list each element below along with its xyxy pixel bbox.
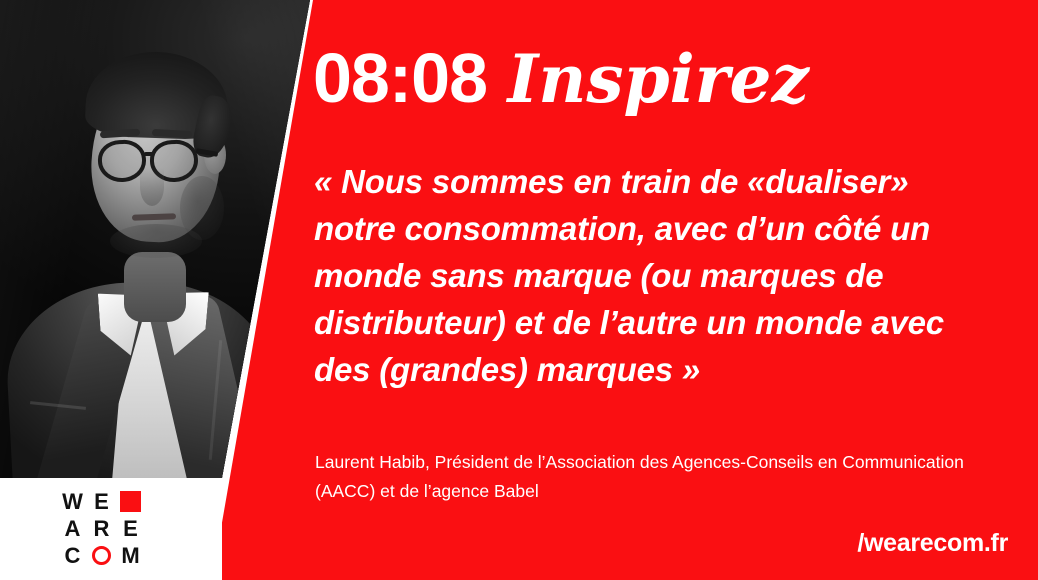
logo-cell-w: W <box>58 488 87 515</box>
logo-cell-e1: E <box>87 488 116 515</box>
logo-cell-blank-3 <box>145 542 174 569</box>
logo-cell-m: M <box>116 542 145 569</box>
logo-cell-square <box>116 488 145 515</box>
logo-cell-a: A <box>58 515 87 542</box>
headline: 08:08 Inspirez <box>313 38 809 118</box>
brand-logo[interactable]: W E A R E C M <box>0 478 222 580</box>
logo-cell-blank-1 <box>145 488 174 515</box>
slide-canvas: 08:08 Inspirez « Nous sommes en train de… <box>0 0 1038 580</box>
quote-attribution: Laurent Habib, Président de l’Associatio… <box>315 448 1005 506</box>
site-url[interactable]: /wearecom.fr <box>857 529 1008 558</box>
portrait-chin-shadow <box>110 224 202 258</box>
red-square-icon <box>120 491 141 512</box>
logo-cell-e2: E <box>116 515 145 542</box>
logo-cell-ring <box>87 542 116 569</box>
logo-letter-grid: W E A R E C M <box>58 488 174 569</box>
content-region: 08:08 Inspirez « Nous sommes en train de… <box>313 0 1038 580</box>
headline-time: 08:08 <box>313 39 487 117</box>
portrait-neck <box>124 252 186 322</box>
portrait-nose <box>140 168 164 206</box>
headline-word: Inspirez <box>508 40 809 118</box>
logo-cell-c: C <box>58 542 87 569</box>
quote-text: « Nous sommes en train de «dualiser» not… <box>314 158 990 393</box>
logo-cell-r: R <box>87 515 116 542</box>
logo-cell-blank-2 <box>145 515 174 542</box>
glasses-bridge-icon <box>144 152 154 156</box>
red-ring-icon <box>92 546 111 565</box>
